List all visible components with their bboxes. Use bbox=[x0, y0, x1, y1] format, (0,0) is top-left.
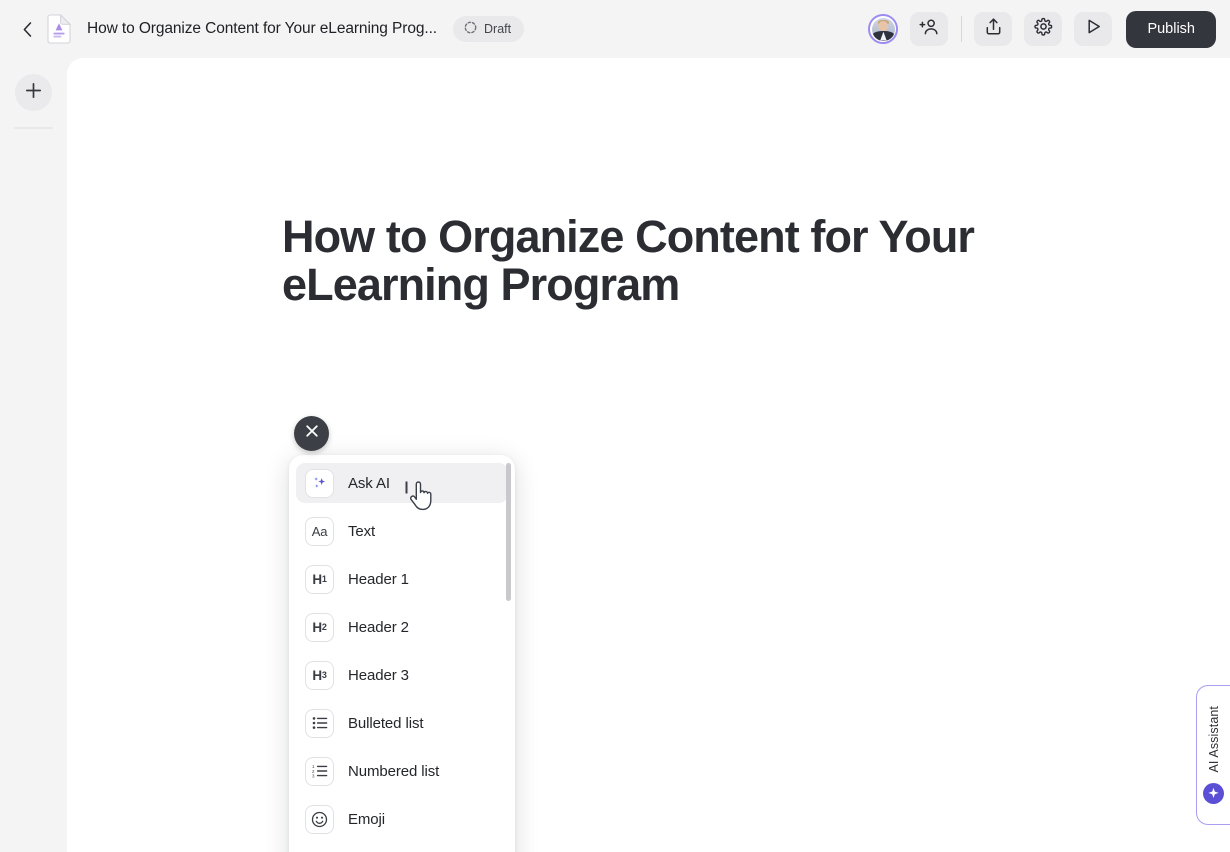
menu-item-header-3[interactable]: H3 Header 3 bbox=[296, 655, 508, 695]
menu-item-label: Header 2 bbox=[348, 619, 409, 636]
heading-1-icon: H1 bbox=[305, 565, 334, 594]
avatar-image bbox=[872, 18, 895, 41]
menu-item-2-columns[interactable]: 2 Columns bbox=[296, 847, 508, 852]
menu-item-label: Text bbox=[348, 523, 375, 540]
left-sidebar bbox=[0, 58, 67, 840]
menu-item-header-1[interactable]: H1 Header 1 bbox=[296, 559, 508, 599]
ai-assistant-tab[interactable]: AI Assistant bbox=[1196, 685, 1230, 825]
chevron-left-icon bbox=[23, 22, 32, 37]
bulleted-list-icon bbox=[305, 709, 334, 738]
block-insert-menu[interactable]: Ask AI Aa Text H1 Header 1 H2 Header 2 H… bbox=[289, 455, 515, 852]
menu-item-ask-ai[interactable]: Ask AI bbox=[296, 463, 508, 503]
menu-item-label: Numbered list bbox=[348, 763, 439, 780]
settings-button[interactable] bbox=[1024, 12, 1062, 46]
publish-button[interactable]: Publish bbox=[1126, 11, 1216, 48]
avatar[interactable] bbox=[868, 14, 898, 44]
menu-item-label: Header 1 bbox=[348, 571, 409, 588]
svg-text:3: 3 bbox=[312, 773, 315, 778]
invite-member-button[interactable] bbox=[910, 12, 948, 46]
heading-2-icon: H2 bbox=[305, 613, 334, 642]
sidebar-divider bbox=[14, 127, 53, 129]
menu-item-label: Emoji bbox=[348, 811, 385, 828]
sparkles-icon bbox=[305, 469, 334, 498]
block-menu-scrollbar[interactable] bbox=[506, 463, 511, 852]
share-button[interactable] bbox=[974, 12, 1012, 46]
page-title[interactable]: How to Organize Content for Your eLearni… bbox=[282, 213, 1012, 309]
block-menu-list: Ask AI Aa Text H1 Header 1 H2 Header 2 H… bbox=[289, 455, 515, 852]
menu-item-label: Bulleted list bbox=[348, 715, 423, 732]
document-icon[interactable] bbox=[46, 13, 72, 45]
heading-3-icon: H3 bbox=[305, 661, 334, 690]
menu-item-label: Ask AI bbox=[348, 475, 390, 492]
emoji-smiley-icon bbox=[305, 805, 334, 834]
menu-item-bulleted-list[interactable]: Bulleted list bbox=[296, 703, 508, 743]
share-upload-icon bbox=[984, 17, 1003, 41]
scrollbar-thumb[interactable] bbox=[506, 463, 511, 601]
status-badge[interactable]: Draft bbox=[453, 16, 524, 42]
preview-button[interactable] bbox=[1074, 12, 1112, 46]
numbered-list-icon: 1 2 3 bbox=[305, 757, 334, 786]
status-badge-label: Draft bbox=[484, 22, 511, 36]
header-divider bbox=[961, 16, 962, 42]
plus-icon bbox=[25, 82, 42, 104]
menu-item-emoji[interactable]: Emoji bbox=[296, 799, 508, 839]
text-aa-icon: Aa bbox=[305, 517, 334, 546]
add-block-button[interactable] bbox=[15, 74, 52, 111]
app-root: How to Organize Content for Your eLearni… bbox=[0, 0, 1230, 852]
back-button[interactable] bbox=[14, 14, 40, 44]
close-menu-button[interactable] bbox=[294, 416, 329, 451]
document-title[interactable]: How to Organize Content for Your eLearni… bbox=[87, 20, 437, 38]
menu-item-header-2[interactable]: H2 Header 2 bbox=[296, 607, 508, 647]
ai-assistant-label: AI Assistant bbox=[1207, 706, 1221, 773]
dashed-circle-icon bbox=[464, 21, 477, 37]
play-icon bbox=[1084, 17, 1103, 41]
gear-icon bbox=[1034, 17, 1053, 41]
app-header: How to Organize Content for Your eLearni… bbox=[0, 0, 1230, 58]
menu-item-text[interactable]: Aa Text bbox=[296, 511, 508, 551]
document-canvas: How to Organize Content for Your eLearni… bbox=[67, 58, 1230, 852]
menu-item-numbered-list[interactable]: 1 2 3 Numbered list bbox=[296, 751, 508, 791]
sparkle-badge-icon bbox=[1203, 783, 1224, 804]
add-person-icon bbox=[919, 17, 939, 42]
close-x-icon bbox=[305, 424, 319, 443]
menu-item-label: Header 3 bbox=[348, 667, 409, 684]
